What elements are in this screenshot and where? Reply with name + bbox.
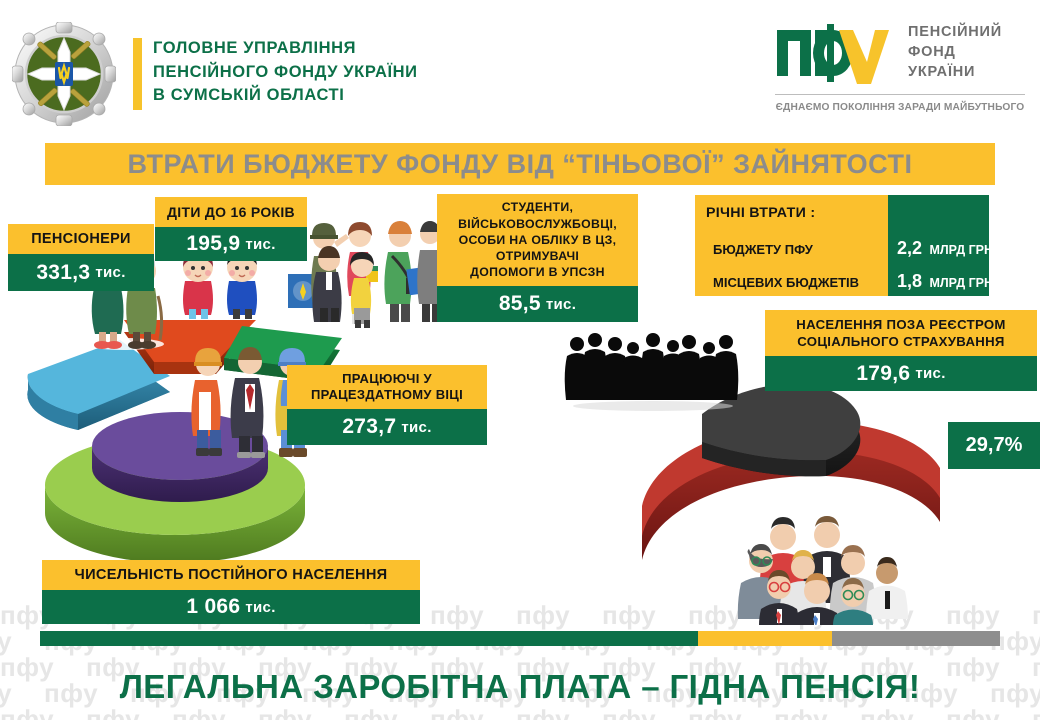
- card-students-head-line-2: ВІЙСЬКОВОСЛУЖБОВЦІ,: [458, 216, 617, 232]
- pension-fund-emblem-icon: [12, 22, 116, 126]
- watermark-text: пфу: [0, 626, 44, 657]
- card-pensioners-head: ПЕНСІОНЕРИ: [8, 224, 154, 254]
- card-students-head: СТУДЕНТИ, ВІЙСЬКОВОСЛУЖБОВЦІ, ОСОБИ НА О…: [437, 194, 638, 286]
- annual-losses-row-2-unit: МЛРД ГРН: [929, 276, 993, 290]
- card-working-age-number: 273,7: [342, 415, 396, 439]
- annual-losses-row-2-label: МІСЦЕВИХ БЮДЖЕТІВ: [713, 275, 859, 290]
- watermark-text: пфу: [602, 704, 688, 720]
- card-pensioners-value: 331,3 тис.: [8, 254, 154, 291]
- org-accent-bar: [133, 38, 142, 110]
- bottom-bar-segment: [832, 631, 1000, 646]
- footer-slogan-text: ЛЕГАЛЬНА ЗАРОБІТНА ПЛАТА – ГІДНА ПЕНСІЯ!: [120, 668, 921, 705]
- bottom-bar-segment: [40, 631, 698, 646]
- card-outside-registry-number: 179,6: [856, 362, 910, 386]
- organization-title: ГОЛОВНЕ УПРАВЛІННЯ ПЕНСІЙНОГО ФОНДУ УКРА…: [153, 37, 418, 108]
- card-students-head-line-3: ОСОБИ НА ОБЛІКУ В ЦЗ,: [459, 232, 617, 248]
- card-outside-registry: НАСЕЛЕННЯ ПОЗА РЕЄСТРОМ СОЦІАЛЬНОГО СТРА…: [765, 310, 1037, 391]
- pfu-wordmark: ПЕНСІЙНИЙ ФОНД УКРАЇНИ: [908, 22, 1002, 82]
- card-students-head-line-5: ДОПОМОГИ В УПСЗН: [470, 264, 605, 280]
- card-students-number: 85,5: [499, 292, 541, 316]
- annual-losses-panel: РІЧНІ ВТРАТИ : БЮДЖЕТУ ПФУ МІСЦЕВИХ БЮДЖ…: [695, 195, 989, 296]
- card-working-age-head-line-1: ПРАЦЮЮЧІ У: [342, 371, 432, 387]
- annual-losses-row-1-value: 2,2 МЛРД ГРН: [897, 238, 993, 259]
- card-total-population: ЧИСЕЛЬНІСТЬ ПОСТІЙНОГО НАСЕЛЕННЯ 1 066 т…: [42, 560, 420, 624]
- share-percentage-badge: 29,7%: [948, 422, 1040, 469]
- annual-losses-row-1-unit: МЛРД ГРН: [929, 243, 993, 257]
- footer-slogan: ЛЕГАЛЬНА ЗАРОБІТНА ПЛАТА – ГІДНА ПЕНСІЯ!: [0, 668, 1040, 706]
- watermark-text: пфу: [172, 704, 258, 720]
- watermark-row: пфупфупфупфупфупфупфупфупфупфупфупфупфуп…: [0, 704, 1040, 720]
- card-total-population-value: 1 066 тис.: [42, 590, 420, 624]
- watermark-text: пфу: [430, 600, 516, 631]
- org-line-1: ГОЛОВНЕ УПРАВЛІННЯ: [153, 37, 418, 61]
- card-outside-registry-head-line-2: СОЦІАЛЬНОГО СТРАХУВАННЯ: [797, 333, 1004, 351]
- card-working-age-head: ПРАЦЮЮЧІ У ПРАЦЕЗДАТНОМУ ВІЦІ: [287, 365, 487, 409]
- annual-losses-row-2-value: 1,8 МЛРД ГРН: [897, 271, 993, 292]
- card-children: ДІТИ ДО 16 РОКІВ 195,9 тис.: [155, 197, 307, 261]
- people-group-illustration: [735, 515, 920, 625]
- card-children-unit: тис.: [245, 236, 275, 253]
- card-working-age-value: 273,7 тис.: [287, 409, 487, 445]
- share-percentage-text: 29,7%: [966, 434, 1023, 457]
- org-line-2: ПЕНСІЙНОГО ФОНДУ УКРАЇНИ: [153, 61, 418, 85]
- card-students-value: 85,5 тис.: [437, 286, 638, 322]
- card-working-age-head-line-2: ПРАЦЕЗДАТНОМУ ВІЦІ: [311, 387, 463, 403]
- card-children-number: 195,9: [186, 232, 240, 256]
- card-pensioners-head-line-1: ПЕНСІОНЕРИ: [31, 232, 131, 247]
- crowd-silhouette-illustration: [563, 332, 743, 412]
- watermark-text: пфу: [344, 704, 430, 720]
- card-total-population-number: 1 066: [186, 595, 240, 619]
- card-pensioners-unit: тис.: [95, 264, 125, 281]
- watermark-text: пфу: [516, 704, 602, 720]
- card-total-population-head-line-1: ЧИСЕЛЬНІСТЬ ПОСТІЙНОГО НАСЕЛЕННЯ: [75, 568, 388, 583]
- bottom-stacked-bar: [40, 631, 1000, 646]
- page-title-text: ВТРАТИ БЮДЖЕТУ ФОНДУ ВІД “ТІНЬОВОЇ” ЗАЙН…: [128, 149, 913, 180]
- infographic-root: пфупфупфупфупфупфупфупфупфупфупфупфупфуп…: [0, 0, 1040, 720]
- card-children-head: ДІТИ ДО 16 РОКІВ: [155, 197, 307, 227]
- card-working-age: ПРАЦЮЮЧІ У ПРАЦЕЗДАТНОМУ ВІЦІ 273,7 тис.: [287, 365, 487, 445]
- bottom-bar-segment: [698, 631, 832, 646]
- annual-losses-title: РІЧНІ ВТРАТИ :: [706, 205, 815, 221]
- pfu-word-2: ФОНД: [908, 42, 1002, 62]
- card-total-population-unit: тис.: [245, 599, 275, 616]
- card-students-head-line-1: СТУДЕНТИ,: [502, 199, 573, 215]
- org-line-3: В СУМСЬКІЙ ОБЛАСТІ: [153, 84, 418, 108]
- watermark-text: пфу: [1032, 704, 1040, 720]
- watermark-text: пфу: [1032, 600, 1040, 631]
- watermark-text: пфу: [430, 704, 516, 720]
- watermark-text: пфу: [0, 704, 86, 720]
- card-outside-registry-value: 179,6 тис.: [765, 356, 1037, 391]
- page-header: ГОЛОВНЕ УПРАВЛІННЯ ПЕНСІЙНОГО ФОНДУ УКРА…: [0, 0, 1040, 135]
- pfu-logo: ПЕНСІЙНИЙ ФОНД УКРАЇНИ ЄДНАЄМО ПОКОЛІННЯ…: [775, 18, 1025, 128]
- watermark-text: пфу: [516, 600, 602, 631]
- annual-losses-row-2-number: 1,8: [897, 271, 922, 291]
- pfu-slogan: ЄДНАЄМО ПОКОЛІННЯ ЗАРАДИ МАЙБУТНЬОГО: [775, 102, 1025, 113]
- pfu-divider: [775, 94, 1025, 95]
- card-pensioners: ПЕНСІОНЕРИ 331,3 тис.: [8, 224, 154, 291]
- annual-losses-row-1-label: БЮДЖЕТУ ПФУ: [713, 242, 813, 257]
- students-and-servicemen-illustration: [288, 216, 444, 328]
- card-outside-registry-head: НАСЕЛЕННЯ ПОЗА РЕЄСТРОМ СОЦІАЛЬНОГО СТРА…: [765, 310, 1037, 356]
- watermark-text: пфу: [860, 704, 946, 720]
- watermark-text: пфу: [774, 704, 860, 720]
- card-pensioners-number: 331,3: [36, 261, 90, 285]
- card-children-value: 195,9 тис.: [155, 227, 307, 261]
- card-students-unit: тис.: [546, 296, 576, 313]
- card-students-head-line-4: ОТРИМУВАЧІ: [496, 248, 579, 264]
- pfu-word-3: УКРАЇНИ: [908, 62, 1002, 82]
- card-students: СТУДЕНТИ, ВІЙСЬКОВОСЛУЖБОВЦІ, ОСОБИ НА О…: [437, 194, 638, 322]
- pfu-word-1: ПЕНСІЙНИЙ: [908, 22, 1002, 42]
- annual-losses-row-1-number: 2,2: [897, 238, 922, 258]
- pfu-logo-icon: [775, 22, 895, 84]
- card-working-age-unit: тис.: [401, 419, 431, 436]
- card-total-population-head: ЧИСЕЛЬНІСТЬ ПОСТІЙНОГО НАСЕЛЕННЯ: [42, 560, 420, 590]
- watermark-text: пфу: [946, 704, 1032, 720]
- watermark-text: пфу: [86, 704, 172, 720]
- card-outside-registry-unit: тис.: [915, 365, 945, 382]
- watermark-text: пфу: [688, 704, 774, 720]
- watermark-text: пфу: [258, 704, 344, 720]
- card-children-head-line-1: ДІТИ ДО 16 РОКІВ: [167, 205, 295, 220]
- page-title: ВТРАТИ БЮДЖЕТУ ФОНДУ ВІД “ТІНЬОВОЇ” ЗАЙН…: [45, 143, 995, 185]
- card-outside-registry-head-line-1: НАСЕЛЕННЯ ПОЗА РЕЄСТРОМ: [796, 316, 1005, 334]
